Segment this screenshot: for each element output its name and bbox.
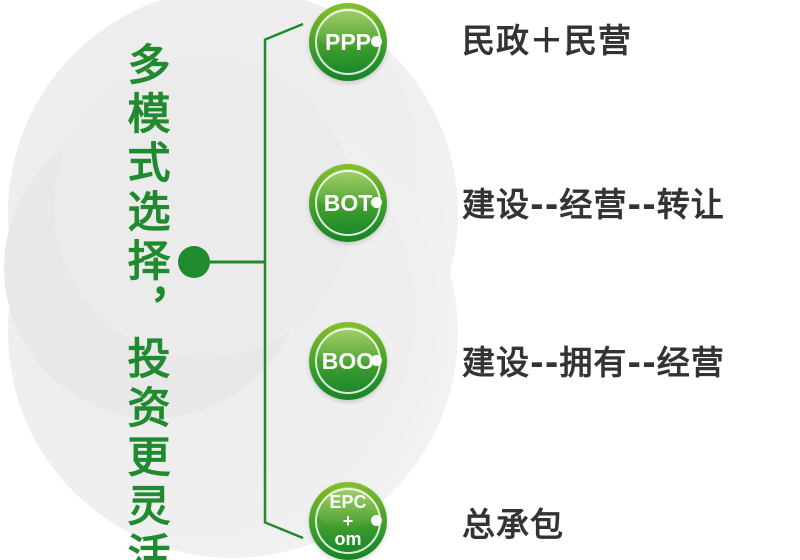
node-epc-om[interactable]: EPC + om [309, 482, 387, 560]
node-bot-label-line-1: BOT [324, 192, 373, 215]
diagram-canvas: 多模式选择，投资更灵活 PPP 民政＋民营 BOT 建设--经营--转让 BOO… [0, 0, 800, 560]
node-epc-om-description: 总承包 [462, 498, 564, 546]
node-ppp[interactable]: PPP [309, 3, 387, 81]
node-epc-om-label-line-1: EPC [329, 493, 366, 512]
node-boo-description: 建设--拥有--经营 [462, 336, 725, 384]
node-bot[interactable]: BOT [309, 164, 387, 242]
page-title-vertical: 多模式选择，投资更灵活 [100, 42, 166, 504]
node-epc-om-label-line-3: om [335, 530, 362, 549]
node-epc-om-label-line-2: + [343, 512, 354, 531]
node-bot-description: 建设--经营--转让 [462, 178, 725, 226]
node-ppp-label-line-1: PPP [325, 31, 371, 54]
node-boo[interactable]: BOO [309, 322, 387, 400]
node-boo-label-line-1: BOO [322, 350, 374, 373]
hub-node-dot [178, 246, 210, 278]
node-boo-label: BOO [309, 322, 387, 400]
node-epc-om-label: EPC + om [309, 482, 387, 560]
node-ppp-label: PPP [309, 3, 387, 81]
node-bot-label: BOT [309, 164, 387, 242]
node-ppp-description: 民政＋民营 [462, 14, 632, 62]
